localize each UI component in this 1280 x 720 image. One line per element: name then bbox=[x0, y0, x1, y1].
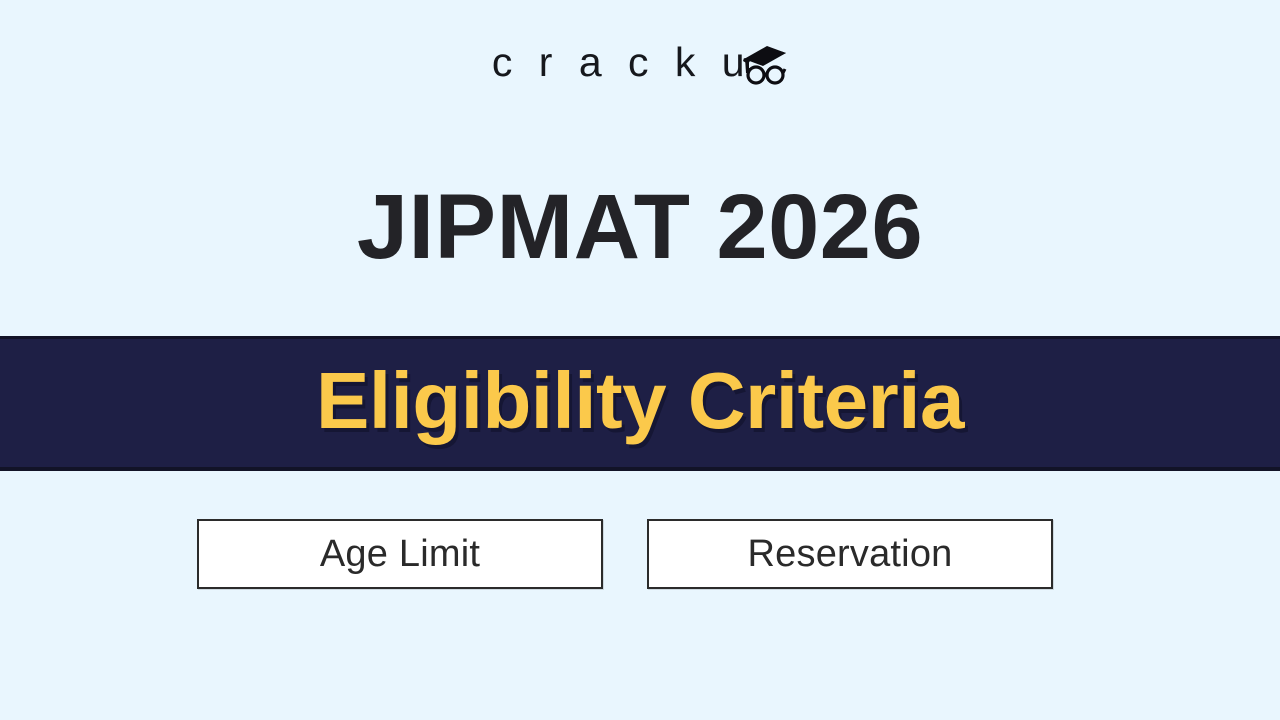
graduation-cap-glasses-icon bbox=[736, 42, 788, 88]
banner-title: Eligibility Criteria bbox=[316, 361, 964, 441]
cracku-logo[interactable]: c r a c k u bbox=[492, 32, 788, 92]
logo-wordmark: c r a c k u bbox=[492, 42, 752, 83]
age-limit-button[interactable]: Age Limit bbox=[197, 519, 603, 589]
page-title: JIPMAT 2026 bbox=[0, 181, 1280, 273]
reservation-button[interactable]: Reservation bbox=[647, 519, 1053, 589]
eligibility-banner: Eligibility Criteria bbox=[0, 336, 1280, 471]
site-header: c r a c k u bbox=[0, 0, 1280, 140]
eligibility-options: Age Limit Reservation bbox=[197, 519, 1054, 589]
